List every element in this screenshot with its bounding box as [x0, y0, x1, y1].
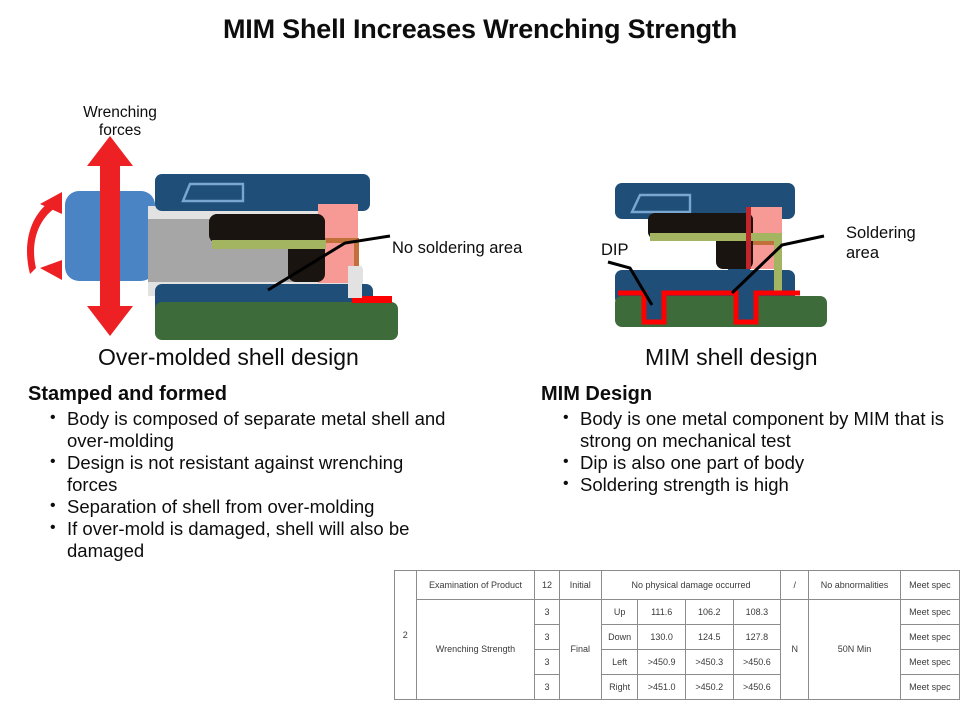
- mim-design-section: MIM Design Body is one metal component b…: [541, 383, 951, 496]
- soldering-area-label: Soldering area: [846, 223, 932, 263]
- table-row: Wrenching Strength 3 Final Up 111.6 106.…: [395, 600, 960, 625]
- stamped-and-formed-bullet-list: Body is composed of separate metal shell…: [28, 408, 448, 562]
- cell-spec: Meet spec: [900, 650, 959, 675]
- cell-direction: Right: [601, 675, 637, 700]
- cell-initial-stage: Initial: [559, 571, 601, 600]
- cell-initial-spec: Meet spec: [900, 571, 959, 600]
- contact-lead-olive: [212, 240, 326, 249]
- cell-value-2: 106.2: [685, 600, 733, 625]
- caption-mim-shell-design: MIM shell design: [645, 344, 818, 371]
- stamped-and-formed-section: Stamped and formed Body is composed of s…: [28, 383, 448, 562]
- cell-initial-unit: /: [781, 571, 809, 600]
- caption-over-molded-shell-design: Over-molded shell design: [98, 344, 359, 371]
- cell-direction: Down: [601, 625, 637, 650]
- cell-spec: Meet spec: [900, 675, 959, 700]
- cell-qty: 3: [535, 625, 559, 650]
- cell-direction: Left: [601, 650, 637, 675]
- cell-value-2: 124.5: [685, 625, 733, 650]
- cell-value-1: 130.0: [638, 625, 686, 650]
- stamped-and-formed-heading: Stamped and formed: [28, 383, 448, 406]
- test-results-table: 2 Examination of Product 12 Initial No p…: [394, 570, 960, 700]
- wrenching-forces-label-line1: Wrenching: [62, 104, 178, 122]
- cell-final-criteria: 50N Min: [809, 600, 900, 700]
- cell-value-3: >450.6: [733, 650, 781, 675]
- cell-value-3: 127.8: [733, 625, 781, 650]
- cell-spec: Meet spec: [900, 600, 959, 625]
- cell-final-stage: Final: [559, 600, 601, 700]
- list-item: Body is one metal component by MIM that …: [563, 408, 951, 452]
- cell-qty: 3: [535, 650, 559, 675]
- list-item: Body is composed of separate metal shell…: [50, 408, 448, 452]
- page-title: MIM Shell Increases Wrenching Strength: [0, 14, 960, 45]
- list-item: Soldering strength is high: [563, 474, 951, 496]
- cell-value-2: >450.2: [685, 675, 733, 700]
- mim-design-heading: MIM Design: [541, 383, 951, 406]
- cell-row-index: 2: [395, 571, 417, 700]
- dip-label: DIP: [601, 240, 629, 260]
- cell-examination-item: Examination of Product: [416, 571, 535, 600]
- cell-value-3: 108.3: [733, 600, 781, 625]
- wrenching-forces-label-line2: forces: [62, 122, 178, 140]
- no-soldering-area-label: No soldering area: [392, 238, 522, 258]
- wrenching-force-rotation-arrow: [27, 192, 62, 280]
- mim-pad-edge-red: [746, 207, 751, 269]
- shell-tail-light: [348, 266, 362, 298]
- mim-design-bullet-list: Body is one metal component by MIM that …: [541, 408, 951, 496]
- cell-direction: Up: [601, 600, 637, 625]
- cell-initial-result: No physical damage occurred: [601, 571, 780, 600]
- cell-qty: 3: [535, 675, 559, 700]
- list-item: Separation of shell from over-molding: [50, 496, 448, 518]
- cell-initial-qty: 12: [535, 571, 559, 600]
- slide: MIM Shell Increases Wrenching Strength: [0, 0, 960, 720]
- cell-value-1: >450.9: [638, 650, 686, 675]
- soldering-area-label-line2: area: [846, 243, 932, 263]
- list-item: If over-mold is damaged, shell will also…: [50, 518, 448, 562]
- cell-wrenching-item: Wrenching Strength: [416, 600, 535, 700]
- cell-value-1: >451.0: [638, 675, 686, 700]
- cell-qty: 3: [535, 600, 559, 625]
- cell-spec: Meet spec: [900, 625, 959, 650]
- cell-value-1: 111.6: [638, 600, 686, 625]
- pcb-board: [155, 302, 398, 340]
- cell-initial-criteria: No abnormalities: [809, 571, 900, 600]
- wrenching-forces-label: Wrenching forces: [62, 104, 178, 140]
- list-item: Design is not resistant against wrenchin…: [50, 452, 448, 496]
- cell-value-3: >450.6: [733, 675, 781, 700]
- table-row: 2 Examination of Product 12 Initial No p…: [395, 571, 960, 600]
- list-item: Dip is also one part of body: [563, 452, 951, 474]
- cell-final-unit: N: [781, 600, 809, 700]
- soldering-area-label-line1: Soldering: [846, 223, 932, 243]
- cell-value-2: >450.3: [685, 650, 733, 675]
